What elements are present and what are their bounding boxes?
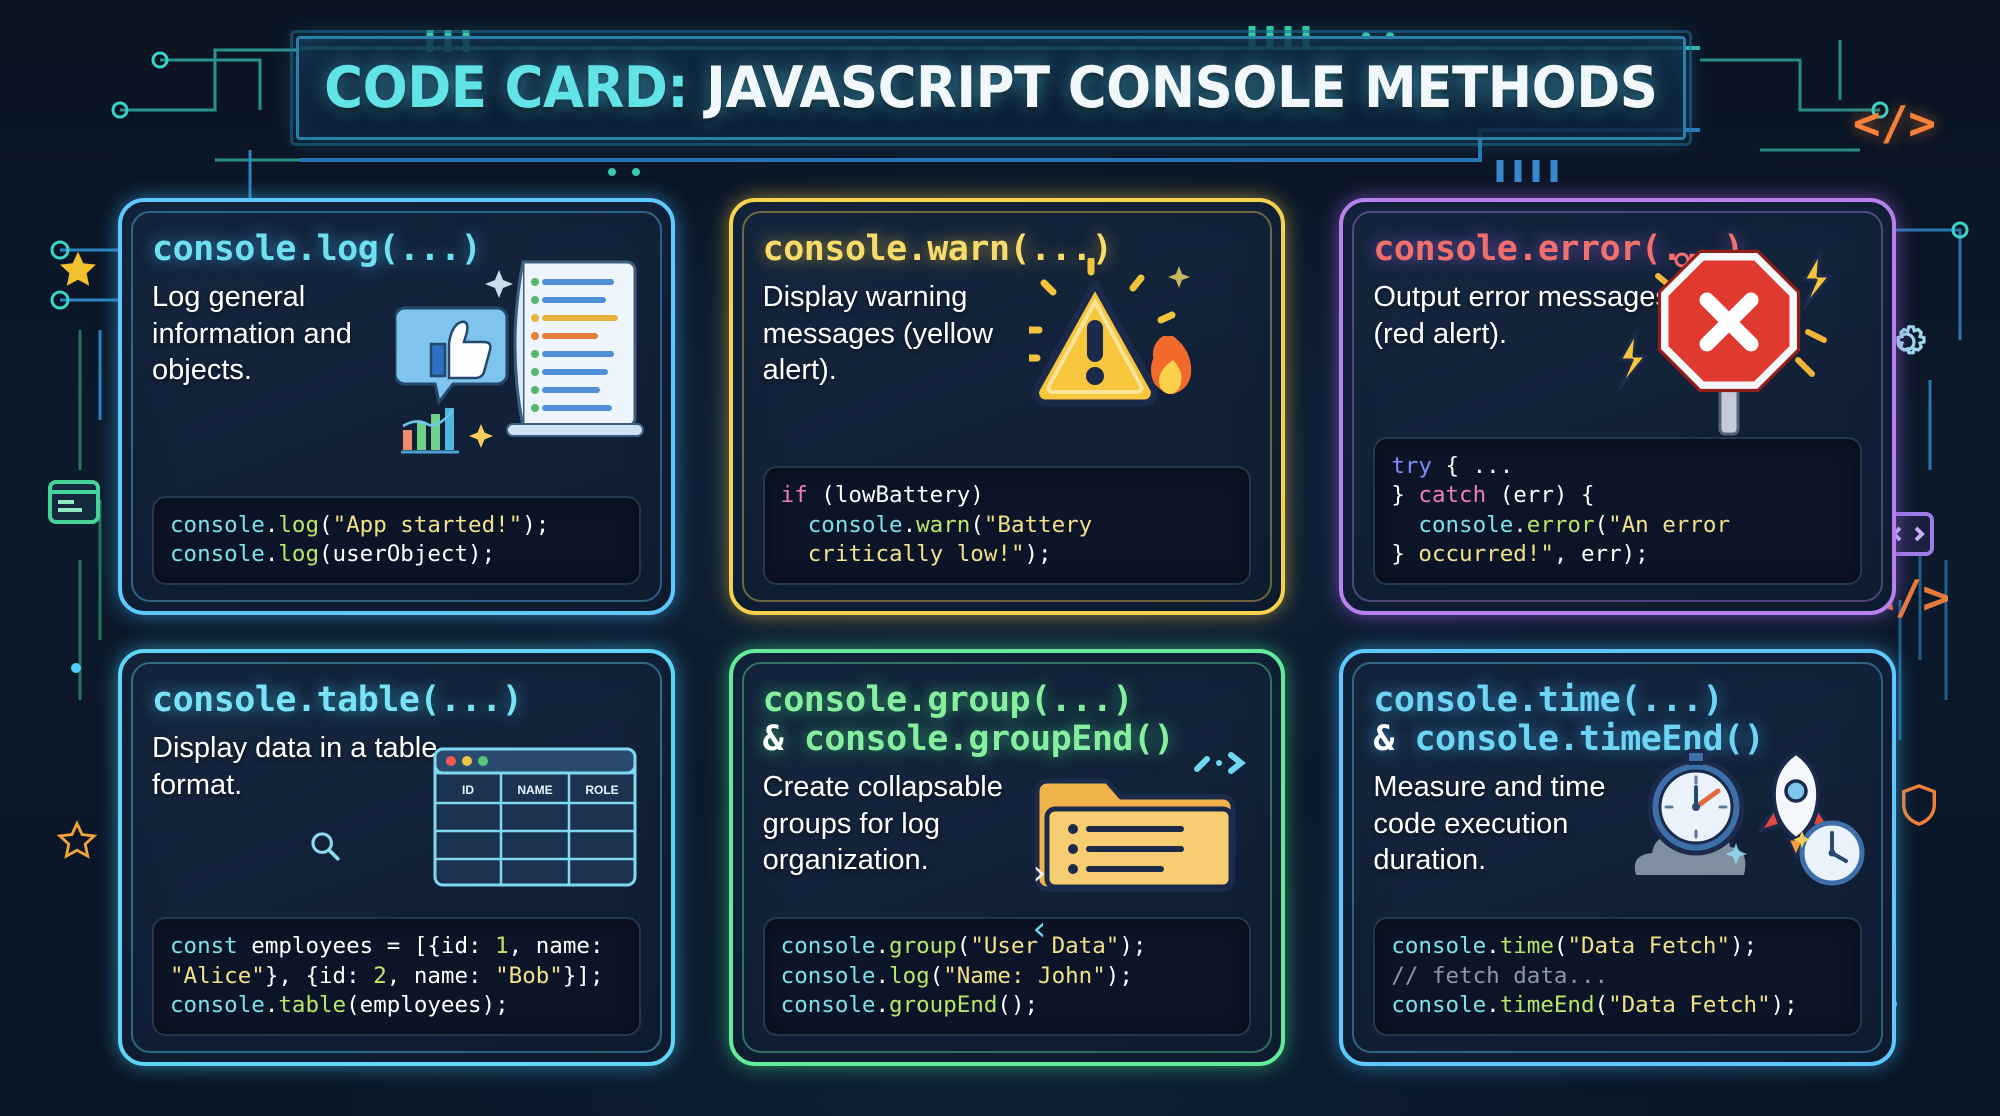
card-description-console-time: Measure and time code execution duration… <box>1373 769 1676 879</box>
card-title-time-line1: console.time(...) <box>1373 680 1723 720</box>
code-block-console-error: try { ... } catch (err) { console.error(… <box>1373 437 1862 585</box>
code-block-console-warn: if (lowBattery) console.warn("Battery cr… <box>763 466 1252 585</box>
star-outline-icon <box>56 820 98 867</box>
card-title-console-table: console.table(...) <box>152 681 641 720</box>
terminal-icon <box>48 480 100 529</box>
card-description-console-group: Create collapsable groups for log organi… <box>763 769 1066 879</box>
table-header-name: NAME <box>517 783 552 797</box>
ampersand: & <box>763 719 784 759</box>
card-description-console-table: Display data in a table format. <box>152 730 455 803</box>
table-header-role: ROLE <box>585 783 618 797</box>
card-title-console-log: console.log(...) <box>152 230 641 269</box>
card-title-console-error: console.error(...) <box>1373 230 1862 269</box>
title-main: JAVASCRIPT CONSOLE METHODS <box>706 55 1657 121</box>
card-console-group[interactable]: console.group(...)& console.groupEnd() C… <box>729 649 1286 1066</box>
card-console-warn[interactable]: console.warn(...) Display warning messag… <box>729 198 1286 615</box>
code-tag-icon: </> <box>1853 96 1936 150</box>
code-block-console-group: console.group("User Data"); console.log(… <box>763 917 1252 1036</box>
code-block-console-table: const employees = [{id: 1, name: "Alice"… <box>152 917 641 1036</box>
card-title-console-time: console.time(...)& console.timeEnd() <box>1373 681 1862 759</box>
card-title-group-line1: console.group(...) <box>763 680 1133 720</box>
card-description-console-error: Output error messages (red alert). <box>1373 279 1676 352</box>
title-banner: CODE CARD: JAVASCRIPT CONSOLE METHODS <box>296 36 1686 140</box>
search-icon <box>308 829 342 868</box>
card-console-error[interactable]: console.error(...) Output error messages… <box>1339 198 1896 615</box>
cards-grid: console.log(...) Log general information… <box>118 198 1896 1066</box>
table-illustration: ID NAME ROLE <box>421 745 651 910</box>
card-title-console-warn: console.warn(...) <box>763 230 1252 269</box>
page-title: CODE CARD: JAVASCRIPT CONSOLE METHODS <box>324 55 1657 121</box>
title-accent: CODE CARD: <box>324 55 688 121</box>
ampersand-2: & <box>1373 719 1394 759</box>
shield-icon <box>1898 782 1940 833</box>
code-block-console-log: console.log("App started!"); console.log… <box>152 496 641 586</box>
card-title-console-group: console.group(...)& console.groupEnd() <box>763 681 1252 759</box>
table-header-id: ID <box>462 783 474 797</box>
card-title-time-line2: console.timeEnd() <box>1414 719 1764 759</box>
card-console-log[interactable]: console.log(...) Log general information… <box>118 198 675 615</box>
card-description-console-warn: Display warning messages (yellow alert). <box>763 279 1066 389</box>
card-console-time[interactable]: console.time(...)& console.timeEnd() Mea… <box>1339 649 1896 1066</box>
star-icon <box>56 248 100 297</box>
dot-icon-left <box>68 660 84 681</box>
card-title-group-line2: console.groupEnd() <box>804 719 1174 759</box>
code-block-console-time: console.time("Data Fetch"); // fetch dat… <box>1373 917 1862 1036</box>
card-console-table[interactable]: console.table(...) Display data in a tab… <box>118 649 675 1066</box>
card-description-console-log: Log general information and objects. <box>152 279 455 389</box>
